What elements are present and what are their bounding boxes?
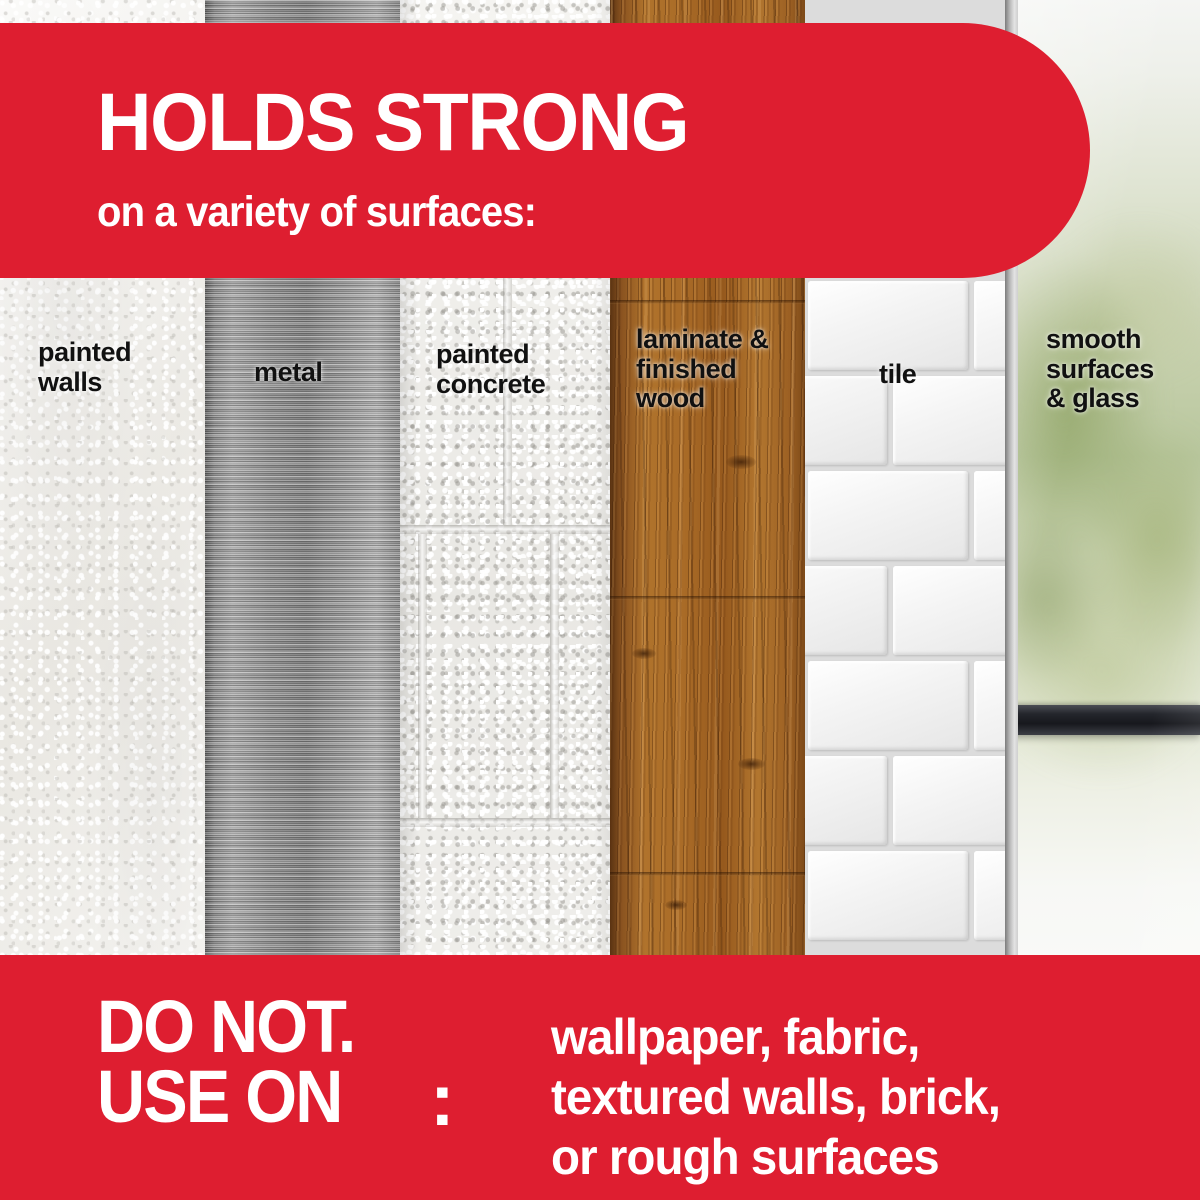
wood-knot — [726, 455, 756, 469]
mortar-joint — [418, 534, 427, 818]
surface-label-painted-walls: painted walls — [38, 338, 131, 397]
tile-piece — [805, 566, 887, 655]
mortar-joint — [400, 525, 610, 534]
warning-banner: DO NOT. USE ON : wallpaper, fabric, text… — [0, 955, 1200, 1200]
tile-row — [805, 848, 1005, 943]
tile-piece — [893, 756, 1005, 845]
wood-knot — [665, 900, 687, 910]
plank-seam — [610, 300, 805, 304]
warning-colon: : — [430, 1063, 455, 1137]
wood-knot — [738, 758, 765, 770]
tile-piece — [974, 281, 1005, 370]
headline-banner: HOLDS STRONG on a variety of surfaces: — [0, 23, 1090, 278]
product-infographic: painted walls metal painted concrete lam… — [0, 0, 1200, 1200]
surface-label-metal: metal — [254, 358, 323, 388]
surface-label-smooth-glass: smooth surfaces & glass — [1046, 325, 1154, 414]
tile-piece — [805, 756, 887, 845]
tile-piece — [805, 376, 887, 465]
warning-heading: DO NOT. USE ON — [97, 992, 355, 1131]
tile-piece — [974, 851, 1005, 940]
tile-row — [805, 468, 1005, 563]
page-subtitle: on a variety of surfaces: — [97, 191, 536, 234]
wood-knot — [632, 648, 656, 659]
mortar-joint — [550, 534, 559, 818]
tile-piece — [808, 281, 968, 370]
tile-row — [805, 753, 1005, 848]
tile-piece — [808, 661, 968, 750]
plank-seam — [610, 596, 805, 600]
tile-row — [805, 658, 1005, 753]
tile-piece — [893, 566, 1005, 655]
tile-piece — [808, 471, 968, 560]
tile-piece — [974, 661, 1005, 750]
tile-piece — [808, 851, 968, 940]
tile-row — [805, 563, 1005, 658]
surface-label-tile: tile — [879, 360, 916, 390]
page-title: HOLDS STRONG — [97, 85, 688, 161]
surface-label-laminate-wood: laminate & finished wood — [636, 325, 769, 414]
surface-label-painted-concrete: painted concrete — [436, 340, 545, 399]
warning-heading-line2: USE ON — [97, 1062, 355, 1132]
warning-heading-line1: DO NOT. — [97, 992, 355, 1062]
excluded-surfaces-list: wallpaper, fabric, textured walls, brick… — [551, 1007, 1000, 1187]
tile-piece — [974, 471, 1005, 560]
plank-seam — [610, 872, 805, 876]
mortar-joint — [400, 818, 610, 827]
